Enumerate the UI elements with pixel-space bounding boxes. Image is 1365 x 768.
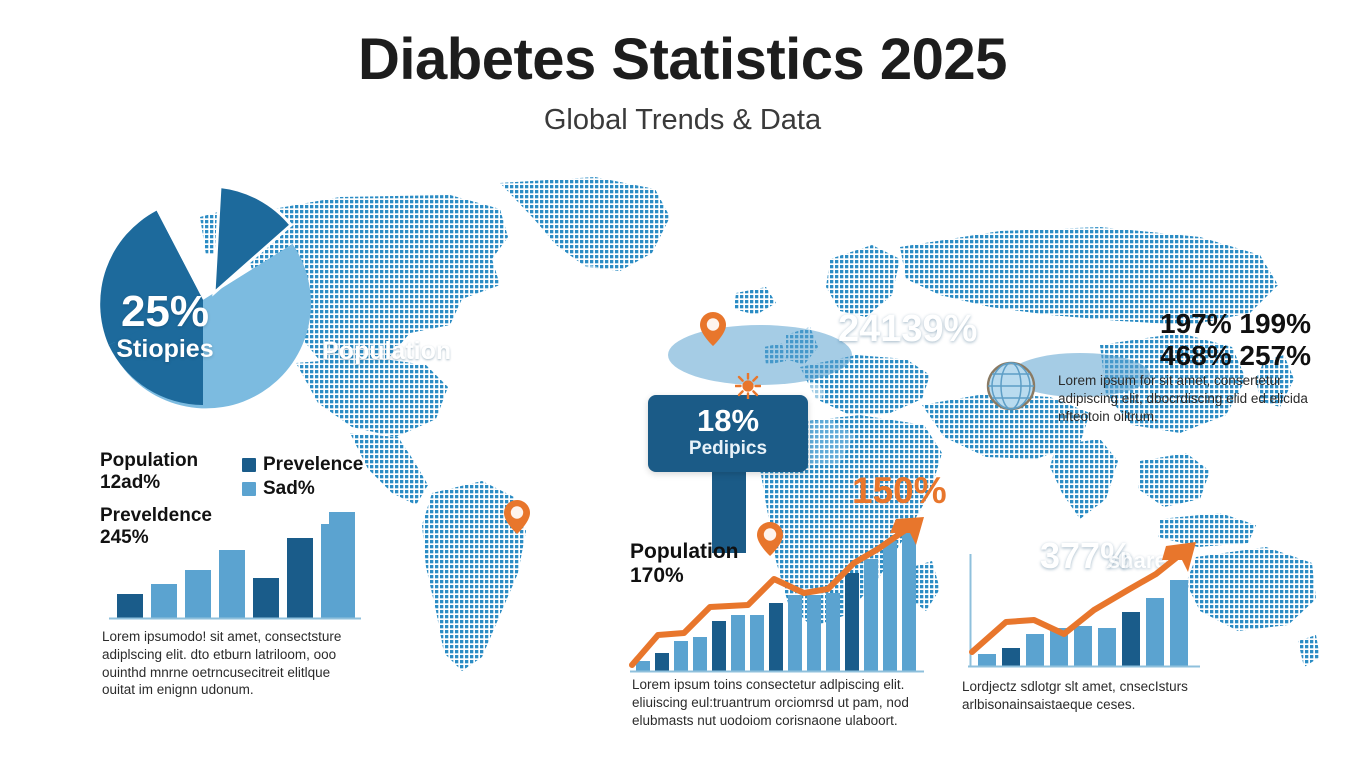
center-growth-value: 150% [852,472,947,509]
legend-label-sad: Sad% [263,479,315,498]
legend-swatch-dark [242,458,256,472]
map-stat-asia: 24139% [838,308,977,351]
legend-swatch-light [242,482,256,496]
map-pin-icon [757,522,783,556]
right-bottom-caption: Lordjectz sdlotgr slt amet, cnsecIsturs … [962,678,1224,714]
center-badge-label: Pedipics [648,439,808,460]
page-title: Diabetes Statistics 2025 [0,30,1365,91]
map-pin-icon [504,500,530,534]
left-stat-prevalence-label: Preveldence [100,505,365,527]
header: Diabetes Statistics 2025 Global Trends &… [0,30,1365,137]
right-caption: Lorem ipsum for sit amet, consertetur ad… [1058,372,1308,425]
sun-burst-icon [735,373,761,399]
right-stats-line1: 197% 199% [1160,308,1311,340]
legend-item-prevelence: Prevelence [242,455,363,474]
right-bar-chart [960,540,1205,675]
center-population-value: 170% [630,564,739,588]
center-chart-caption: Lorem ipsum toins consectetur adlpiscing… [632,676,950,729]
legend-item-sad: Sad% [242,479,363,498]
map-pin-icon [700,312,726,346]
left-stat-prevalence: Preveldence 245% [100,505,365,550]
center-population-label: Population [630,540,739,564]
center-badge: 18% Pedipics [648,395,808,472]
globe-icon [985,360,1037,412]
left-stat-prevalence-value: 245% [100,527,365,549]
pie-chart [88,185,318,415]
infographic-canvas: Diabetes Statistics 2025 Global Trends &… [0,0,1365,768]
left-chart-legend: Prevelence Sad% [242,455,363,503]
center-population-stat: Population 170% [630,540,739,588]
map-label-north-america: Population [322,337,451,366]
center-badge-value: 18% [648,405,808,436]
legend-label-prevelence: Prevelence [263,455,363,474]
right-stats-block: 197% 199% 468% 257% [1160,308,1311,373]
right-stats-line2: 468% 257% [1160,340,1311,372]
page-subtitle: Global Trends & Data [0,105,1365,137]
left-chart-caption: Lorem ipsumodo! sit amet, consectsture a… [102,628,364,699]
